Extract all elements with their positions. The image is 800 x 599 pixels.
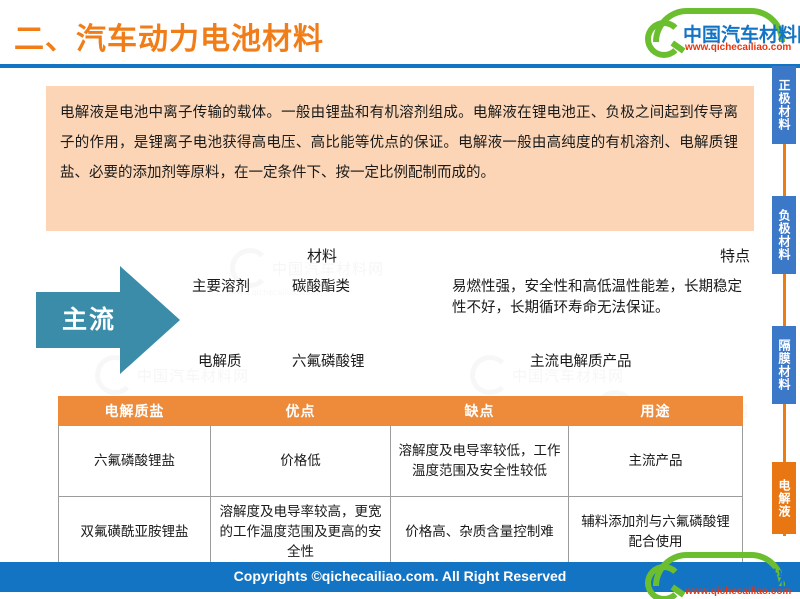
page-title: 二、汽车动力电池材料	[14, 14, 324, 58]
slide-canvas: 中国汽车材料网www.qichecailiao.com 中国汽车材料网www.q…	[0, 0, 800, 599]
table-column-header: 电解质盐	[59, 397, 211, 426]
header-divider	[0, 64, 800, 68]
sidebar-item-separator-material[interactable]: 隔膜材料	[772, 326, 796, 404]
mainstream-arrow: 主流	[36, 266, 181, 374]
sidebar-item-anode-material[interactable]: 负极材料	[772, 196, 796, 274]
table-row: 六氟磷酸锂盐 价格低 溶解度及电导率较低，工作温度范围及安全性较低 主流产品	[59, 426, 743, 497]
table-cell: 主流产品	[569, 426, 743, 497]
table-cell: 价格高、杂质含量控制难	[391, 497, 569, 568]
mid-row-category: 主要溶剂	[192, 277, 250, 298]
sidebar-item-cathode-material[interactable]: 正极材料	[772, 66, 796, 144]
arrow-label: 主流	[46, 300, 132, 336]
mid-row-feature: 主流电解质产品	[530, 352, 632, 373]
table-cell: 溶解度及电导率较低，工作温度范围及安全性较低	[391, 426, 569, 497]
mid-row-feature: 易燃性强，安全性和高低温性能差，长期稳定性不好，长期循环寿命无法保证。	[452, 277, 742, 319]
intro-panel: 电解液是电池中离子传输的载体。一般由锂盐和有机溶剂组成。电解液在锂电池正、负极之…	[46, 86, 754, 231]
table-cell: 六氟磷酸锂盐	[59, 426, 211, 497]
sidebar-item-electrolyte[interactable]: 电解液	[772, 462, 796, 534]
table-header-row: 电解质盐 优点 缺点 用途	[59, 397, 743, 426]
mid-column-header-material: 材料	[307, 246, 337, 267]
mid-row-category: 电解质	[198, 352, 242, 373]
table-column-header: 缺点	[391, 397, 569, 426]
table-cell: 溶解度及电导率较高，更宽的工作温度范围及更高的安全性	[211, 497, 391, 568]
logo-url-label: www.qichecailiao.com	[685, 586, 791, 597]
table-column-header: 用途	[569, 397, 743, 426]
intro-paragraph: 电解液是电池中离子传输的载体。一般由锂盐和有机溶剂组成。电解液在锂电池正、负极之…	[60, 98, 738, 188]
site-logo-header: 中国汽车材料网 www.qichecailiao.com	[645, 8, 793, 58]
mid-column-header-feature: 特点	[720, 246, 750, 267]
electrolyte-salt-table: 电解质盐 优点 缺点 用途 六氟磷酸锂盐 价格低 溶解度及电导率较低，工作温度范…	[58, 396, 743, 568]
mid-row-material: 六氟磷酸锂	[292, 352, 365, 373]
watermark-ring-icon	[470, 355, 510, 395]
table-cell: 双氟磺酰亚胺锂盐	[59, 497, 211, 568]
site-logo-footer: 中国汽车材料网 www.qichecailiao.com	[645, 552, 793, 599]
logo-url-label: www.qichecailiao.com	[685, 42, 791, 53]
table-column-header: 优点	[211, 397, 391, 426]
q-letter-icon	[645, 20, 683, 58]
table-cell: 价格低	[211, 426, 391, 497]
table-row: 双氟磺酰亚胺锂盐 溶解度及电导率较高，更宽的工作温度范围及更高的安全性 价格高、…	[59, 497, 743, 568]
mid-row-material: 碳酸酯类	[292, 277, 350, 298]
